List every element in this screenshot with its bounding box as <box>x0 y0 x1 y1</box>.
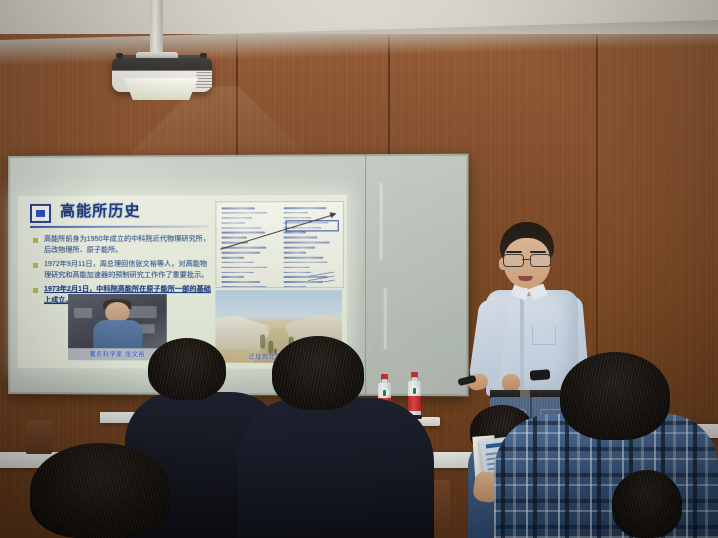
handwriting-line <box>221 232 265 234</box>
slide-title: 高能所历史 <box>60 200 140 221</box>
handwriting-line <box>221 222 244 224</box>
audience-hair-strands <box>612 470 682 538</box>
audience-hair-strands <box>148 338 226 400</box>
handwriting-line <box>284 267 310 269</box>
wristwatch <box>530 369 551 380</box>
bottle-label <box>408 396 421 411</box>
handwriting-line <box>221 257 243 259</box>
handwriting-line <box>221 237 247 239</box>
audience-member-center <box>272 336 364 410</box>
handwriting-line <box>221 252 260 254</box>
handwriting-line <box>221 262 253 264</box>
handwriting-line <box>221 217 252 219</box>
presenter-eyebrow <box>506 251 522 253</box>
handwriting-line <box>221 271 254 273</box>
lecture-room-photo: 高能所历史 高能所前身为1950年成立的中科院近代物理研究所，后改物理所、原子能… <box>0 0 718 538</box>
presenter-shirt-pocket <box>532 326 556 345</box>
audience-member-back-left <box>148 338 226 400</box>
handwriting-line <box>284 212 309 214</box>
slide-bullet: 高能所前身为1950年成立的中科院近代物理研究所，后改物理所、原子能所。 <box>32 234 213 256</box>
handwriting-line <box>221 207 255 209</box>
audience-member-center-body <box>238 398 434 538</box>
handwriting-line <box>284 207 327 209</box>
photo-person-head <box>105 302 129 322</box>
handwriting-line <box>284 262 328 264</box>
slide-bullet: 1972年9月11日，周总理回信张文裕等人，对高能物理研究和高能加速器的预制研究… <box>32 259 213 281</box>
handwriting-line <box>221 286 265 288</box>
handwriting-line <box>284 252 307 254</box>
presenter-eyebrow <box>530 251 546 253</box>
audience-member-plaid-shirt <box>560 352 670 440</box>
audience-hair-strands <box>30 443 170 538</box>
screen-streak <box>384 288 387 349</box>
projector-vent-icon <box>196 72 212 88</box>
handwriting-line <box>284 237 318 239</box>
audience-hair-strands <box>560 352 670 440</box>
slide-title-marker-icon <box>30 204 51 223</box>
handwriting-line <box>284 247 316 249</box>
glasses-icon <box>503 254 549 265</box>
handwriting-signature <box>308 272 335 282</box>
audience-member-far-right <box>612 470 682 538</box>
photo-tree <box>260 334 265 348</box>
handwriting-line <box>284 286 307 288</box>
handwriting-line <box>284 257 324 259</box>
projector-lens <box>124 78 198 100</box>
handwriting-line <box>284 242 330 244</box>
handwriting-line <box>221 267 267 269</box>
photo-shelf <box>74 308 92 318</box>
handwriting-line <box>221 227 261 229</box>
handwriting-line <box>284 271 310 273</box>
photo-sky <box>215 290 341 318</box>
handwriting-line <box>221 281 259 283</box>
slide-title-underline <box>30 226 209 228</box>
presenter-shirt-placket <box>520 294 524 394</box>
audience-hair-strands <box>272 336 364 410</box>
audience-member-front-left <box>30 443 170 538</box>
handwritten-letter-scan <box>215 201 343 288</box>
handwriting-line <box>221 276 243 278</box>
handwriting-line <box>284 232 306 234</box>
handwriting-line <box>221 212 267 214</box>
projector-mount-pole <box>150 0 163 58</box>
screen-streak <box>380 183 383 260</box>
handwriting-line <box>284 217 312 219</box>
screen-seam <box>365 154 366 396</box>
